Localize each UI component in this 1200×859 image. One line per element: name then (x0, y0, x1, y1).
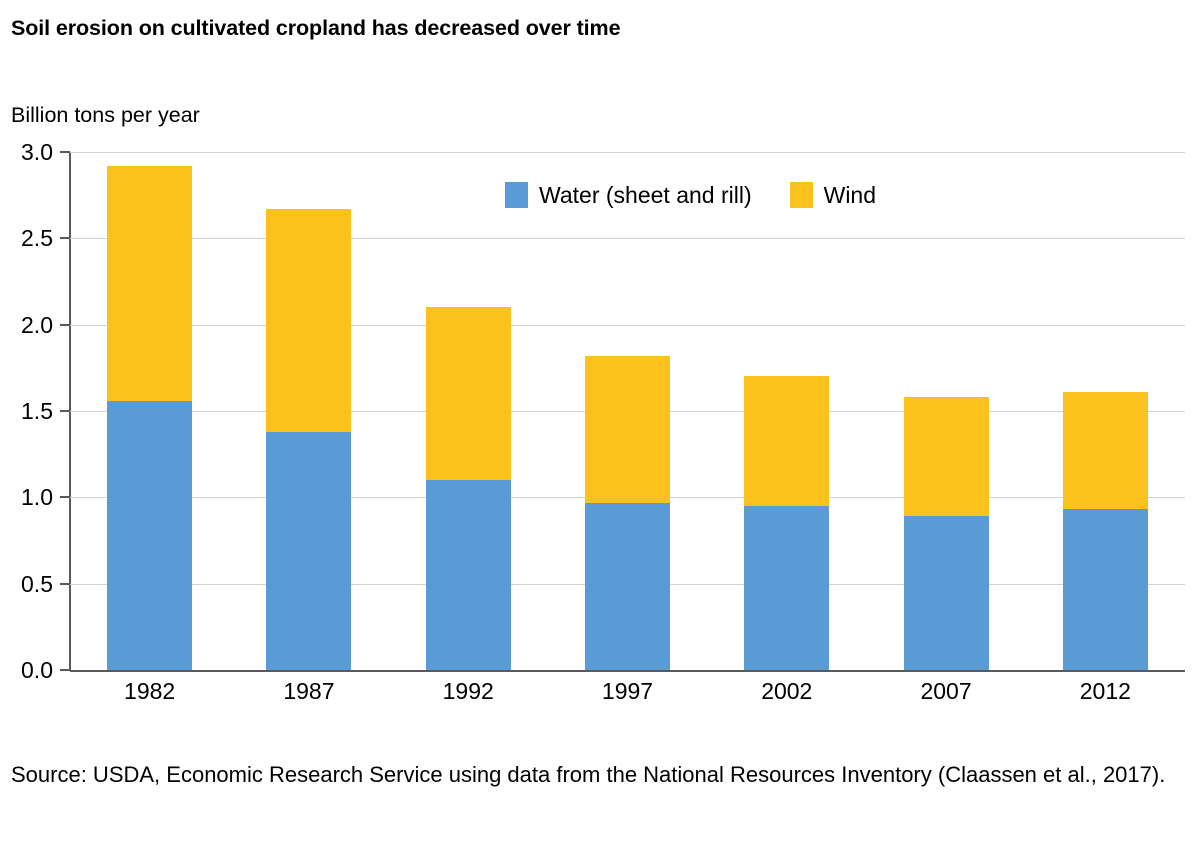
bar-segment-wind[interactable] (585, 356, 670, 503)
x-axis-line (70, 670, 1185, 672)
y-tick-label: 3.0 (21, 141, 53, 164)
bar-group[interactable] (426, 152, 511, 670)
bar-segment-water[interactable] (1063, 509, 1148, 670)
bar-segment-wind[interactable] (107, 166, 192, 401)
bar-group[interactable] (107, 152, 192, 670)
bar-segment-wind[interactable] (266, 209, 351, 432)
y-tick-label: 0.5 (21, 573, 53, 596)
bar-group[interactable] (744, 152, 829, 670)
x-tick-label: 2007 (866, 678, 1026, 705)
bar-segment-wind[interactable] (904, 397, 989, 516)
y-tick-label: 2.5 (21, 227, 53, 250)
legend-label: Wind (824, 184, 876, 207)
y-axis-title: Billion tons per year (11, 103, 200, 128)
y-tick-mark (60, 151, 70, 153)
bar-segment-wind[interactable] (1063, 392, 1148, 509)
legend-entry[interactable]: Wind (790, 182, 876, 208)
bar-group[interactable] (904, 152, 989, 670)
bar-group[interactable] (1063, 152, 1148, 670)
bar-segment-water[interactable] (904, 516, 989, 670)
legend-entry[interactable]: Water (sheet and rill) (505, 182, 752, 208)
legend-label: Water (sheet and rill) (539, 184, 752, 207)
bar-segment-water[interactable] (266, 432, 351, 670)
y-tick-mark (60, 324, 70, 326)
y-tick-mark (60, 583, 70, 585)
x-tick-label: 1997 (548, 678, 708, 705)
bar-segment-water[interactable] (744, 506, 829, 670)
x-tick-label: 1987 (229, 678, 389, 705)
bar-segment-wind[interactable] (426, 307, 511, 480)
bar-segment-water[interactable] (426, 480, 511, 670)
chart-legend: Water (sheet and rill)Wind (505, 182, 876, 208)
x-tick-label: 2002 (707, 678, 867, 705)
y-tick-mark (60, 410, 70, 412)
legend-swatch-icon (790, 182, 813, 208)
bar-segment-wind[interactable] (744, 376, 829, 506)
x-tick-label: 1992 (388, 678, 548, 705)
legend-swatch-icon (505, 182, 528, 208)
y-tick-label: 2.0 (21, 314, 53, 337)
y-tick-label: 0.0 (21, 659, 53, 682)
source-note: Source: USDA, Economic Research Service … (11, 760, 1191, 789)
page-title: Soil erosion on cultivated cropland has … (11, 16, 620, 41)
y-tick-mark (60, 669, 70, 671)
bar-segment-water[interactable] (107, 401, 192, 670)
bar-segment-water[interactable] (585, 503, 670, 670)
plot-area (70, 152, 1185, 670)
bar-group[interactable] (266, 152, 351, 670)
y-tick-mark (60, 237, 70, 239)
y-tick-label: 1.0 (21, 486, 53, 509)
bar-group[interactable] (585, 152, 670, 670)
x-tick-label: 2012 (1025, 678, 1185, 705)
y-tick-mark (60, 496, 70, 498)
x-tick-label: 1982 (70, 678, 230, 705)
y-tick-label: 1.5 (21, 400, 53, 423)
